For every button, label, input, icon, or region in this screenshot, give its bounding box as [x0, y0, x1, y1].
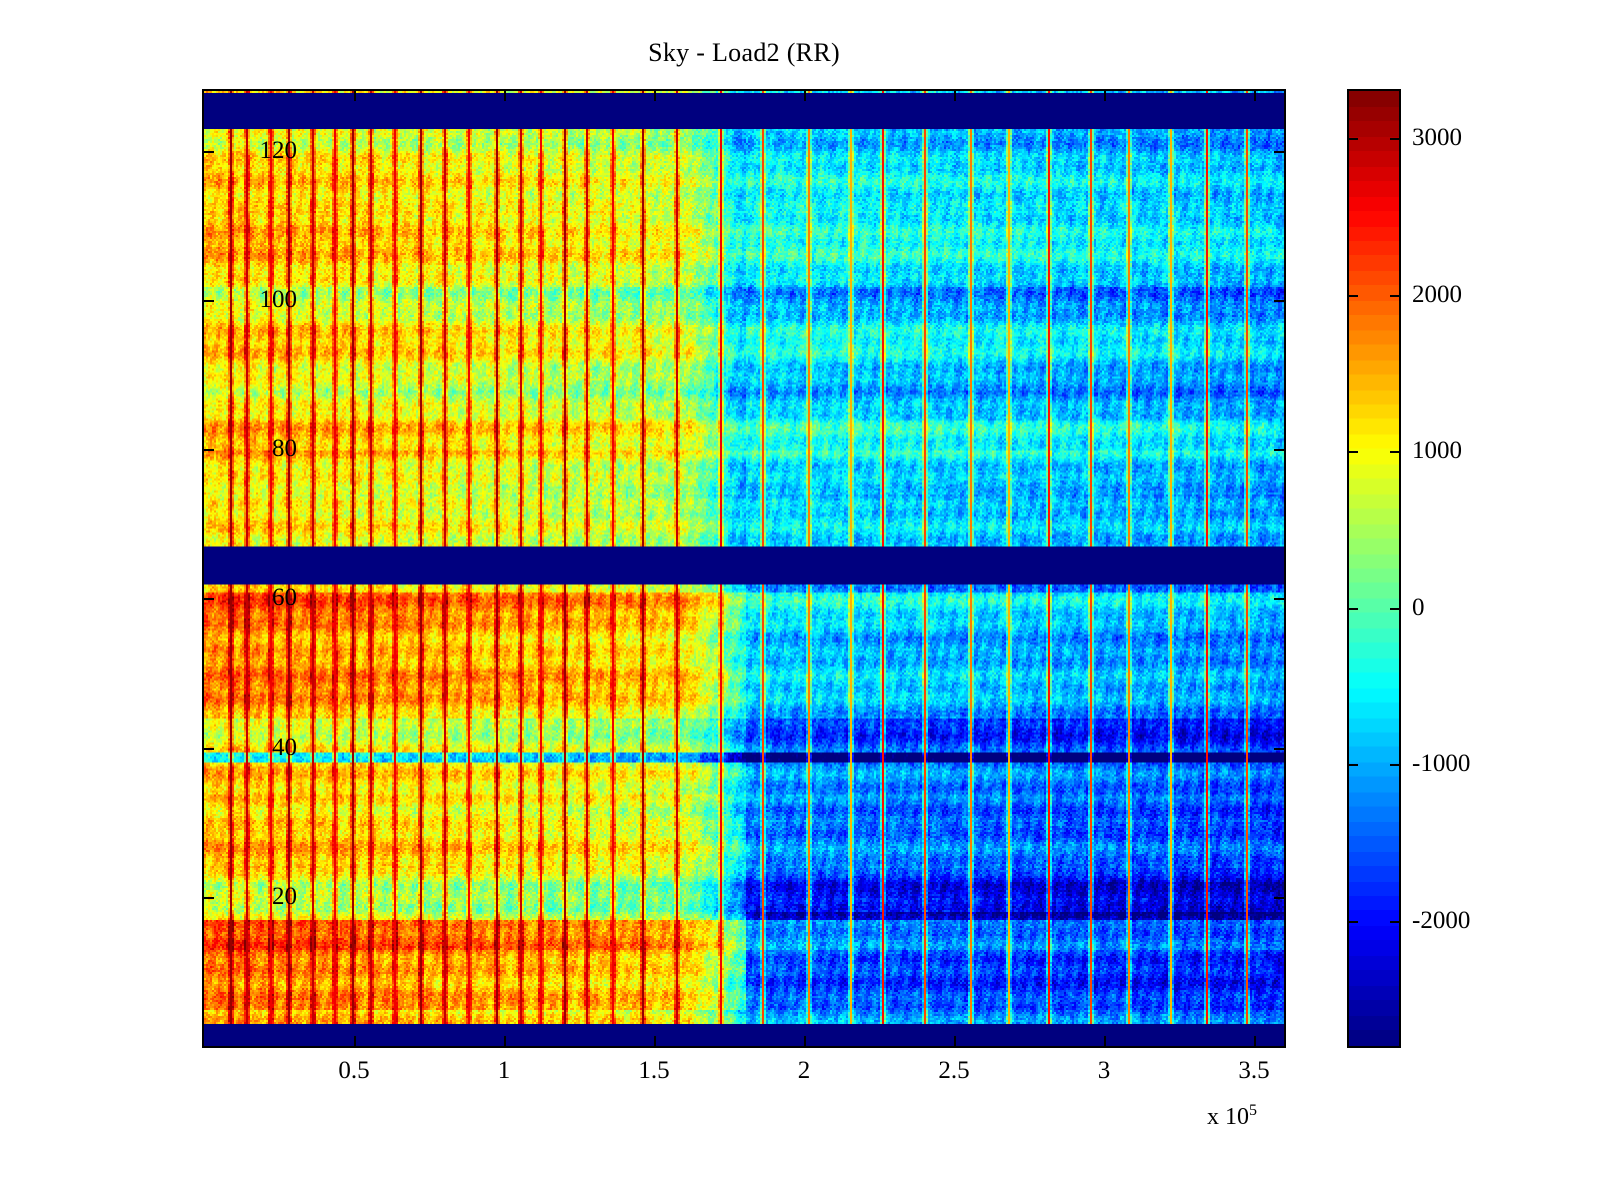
colorbar-tick-mark-right	[1390, 138, 1400, 140]
x-tick-mark	[804, 1036, 806, 1047]
colorbar-tick-mark-left	[1348, 764, 1358, 766]
x-tick-label: 1.5	[594, 1057, 714, 1085]
colorbar-tick-label: 2000	[1412, 282, 1552, 307]
y-tick-mark	[203, 748, 214, 750]
x-tick-mark	[654, 1036, 656, 1047]
colorbar-tick-label: 1000	[1412, 438, 1552, 463]
colorbar-tick-label: 3000	[1412, 125, 1552, 150]
y-tick-mark-right	[1274, 300, 1285, 302]
y-tick-mark-right	[1274, 151, 1285, 153]
x-tick-label: 1	[444, 1057, 564, 1085]
y-tick-label: 80	[177, 436, 297, 461]
y-tick-label: 20	[177, 884, 297, 909]
y-tick-mark	[203, 897, 214, 899]
y-tick-mark	[203, 449, 214, 451]
heatmap-image	[204, 91, 1284, 1046]
y-tick-mark	[203, 598, 214, 600]
y-tick-mark-right	[1274, 449, 1285, 451]
colorbar-tick-mark-left	[1348, 138, 1358, 140]
x-tick-mark-top	[804, 90, 806, 101]
colorbar-tick-mark-right	[1390, 921, 1400, 923]
colorbar[interactable]	[1347, 89, 1401, 1048]
colorbar-tick-mark-right	[1390, 295, 1400, 297]
x-tick-mark	[1254, 1036, 1256, 1047]
x-tick-label: 3	[1044, 1057, 1164, 1085]
x-tick-mark-top	[954, 90, 956, 101]
colorbar-gradient	[1349, 91, 1399, 1046]
y-tick-mark-right	[1274, 748, 1285, 750]
colorbar-tick-mark-left	[1348, 921, 1358, 923]
y-tick-mark	[203, 151, 214, 153]
x-tick-label: 2.5	[894, 1057, 1014, 1085]
x-exponent-base: x 10	[1207, 1104, 1249, 1130]
y-tick-mark-right	[1274, 598, 1285, 600]
y-tick-mark-right	[1274, 897, 1285, 899]
x-tick-mark-top	[504, 90, 506, 101]
x-tick-mark	[1104, 1036, 1106, 1047]
x-tick-mark-top	[654, 90, 656, 101]
heatmap-axes[interactable]	[202, 89, 1286, 1048]
x-tick-mark	[954, 1036, 956, 1047]
colorbar-tick-mark-right	[1390, 451, 1400, 453]
x-exponent-power: 5	[1249, 1102, 1257, 1119]
x-tick-mark-top	[1104, 90, 1106, 101]
figure-canvas: Sky - Load2 (RR) 20406080100120 0.511.52…	[0, 0, 1600, 1200]
colorbar-tick-label: -1000	[1412, 751, 1552, 776]
y-tick-label: 100	[177, 287, 297, 312]
y-tick-mark	[203, 300, 214, 302]
colorbar-tick-mark-left	[1348, 608, 1358, 610]
page-title: Sky - Load2 (RR)	[202, 38, 1286, 68]
colorbar-tick-mark-left	[1348, 451, 1358, 453]
y-tick-label: 120	[177, 138, 297, 163]
x-tick-mark	[354, 1036, 356, 1047]
colorbar-tick-mark-right	[1390, 764, 1400, 766]
colorbar-tick-mark-left	[1348, 295, 1358, 297]
y-tick-label: 60	[177, 585, 297, 610]
y-tick-label: 40	[177, 735, 297, 760]
x-tick-mark-top	[354, 90, 356, 101]
x-tick-mark	[504, 1036, 506, 1047]
colorbar-tick-label: 0	[1412, 595, 1552, 620]
colorbar-tick-label: -2000	[1412, 908, 1552, 933]
x-tick-label: 0.5	[294, 1057, 414, 1085]
x-tick-label: 3.5	[1194, 1057, 1314, 1085]
colorbar-tick-mark-right	[1390, 608, 1400, 610]
x-tick-label: 2	[744, 1057, 864, 1085]
x-axis-exponent-label: x 105	[1207, 1102, 1257, 1131]
x-tick-mark-top	[1254, 90, 1256, 101]
